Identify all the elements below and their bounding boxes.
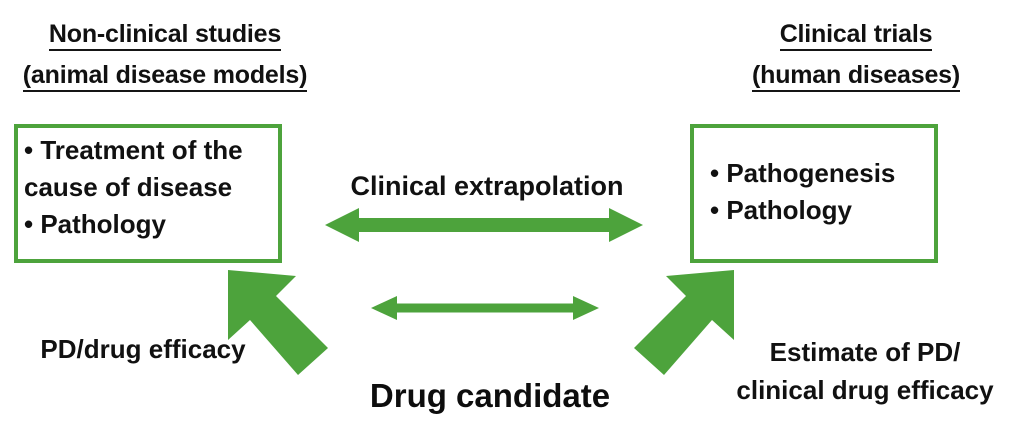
- heading-clinical-trials-line2: (human diseases): [688, 63, 1024, 92]
- heading-non-clinical-line1: Non-clinical studies: [0, 22, 330, 51]
- heading-non-clinical: Non-clinical studies (animal disease mod…: [0, 22, 330, 92]
- label-estimate-line1: Estimate of PD/: [706, 334, 1024, 372]
- double-headed-arrow-thin-icon: [366, 292, 604, 324]
- box-non-clinical-content: • Treatment of the cause of disease • Pa…: [24, 132, 243, 243]
- heading-clinical-trials-line1: Clinical trials: [688, 22, 1024, 51]
- list-item: • Pathogenesis: [710, 155, 895, 192]
- label-clinical-extrapolation: Clinical extrapolation: [322, 171, 652, 202]
- label-estimate-line2: clinical drug efficacy: [706, 372, 1024, 410]
- heading-non-clinical-line2: (animal disease models): [0, 63, 330, 92]
- list-item: cause of disease: [24, 169, 243, 206]
- heading-clinical-trials: Clinical trials (human diseases): [688, 22, 1024, 92]
- list-item: • Pathology: [710, 192, 895, 229]
- diagram-canvas: Non-clinical studies (animal disease mod…: [0, 0, 1024, 448]
- double-headed-arrow-icon: [318, 205, 650, 245]
- label-estimate-of-pd: Estimate of PD/ clinical drug efficacy: [706, 334, 1024, 409]
- label-pd-drug-efficacy: PD/drug efficacy: [8, 334, 278, 365]
- box-clinical-trials-content: • Pathogenesis • Pathology: [710, 155, 895, 229]
- label-drug-candidate: Drug candidate: [320, 377, 660, 415]
- list-item: • Treatment of the: [24, 132, 243, 169]
- list-item: • Pathology: [24, 206, 243, 243]
